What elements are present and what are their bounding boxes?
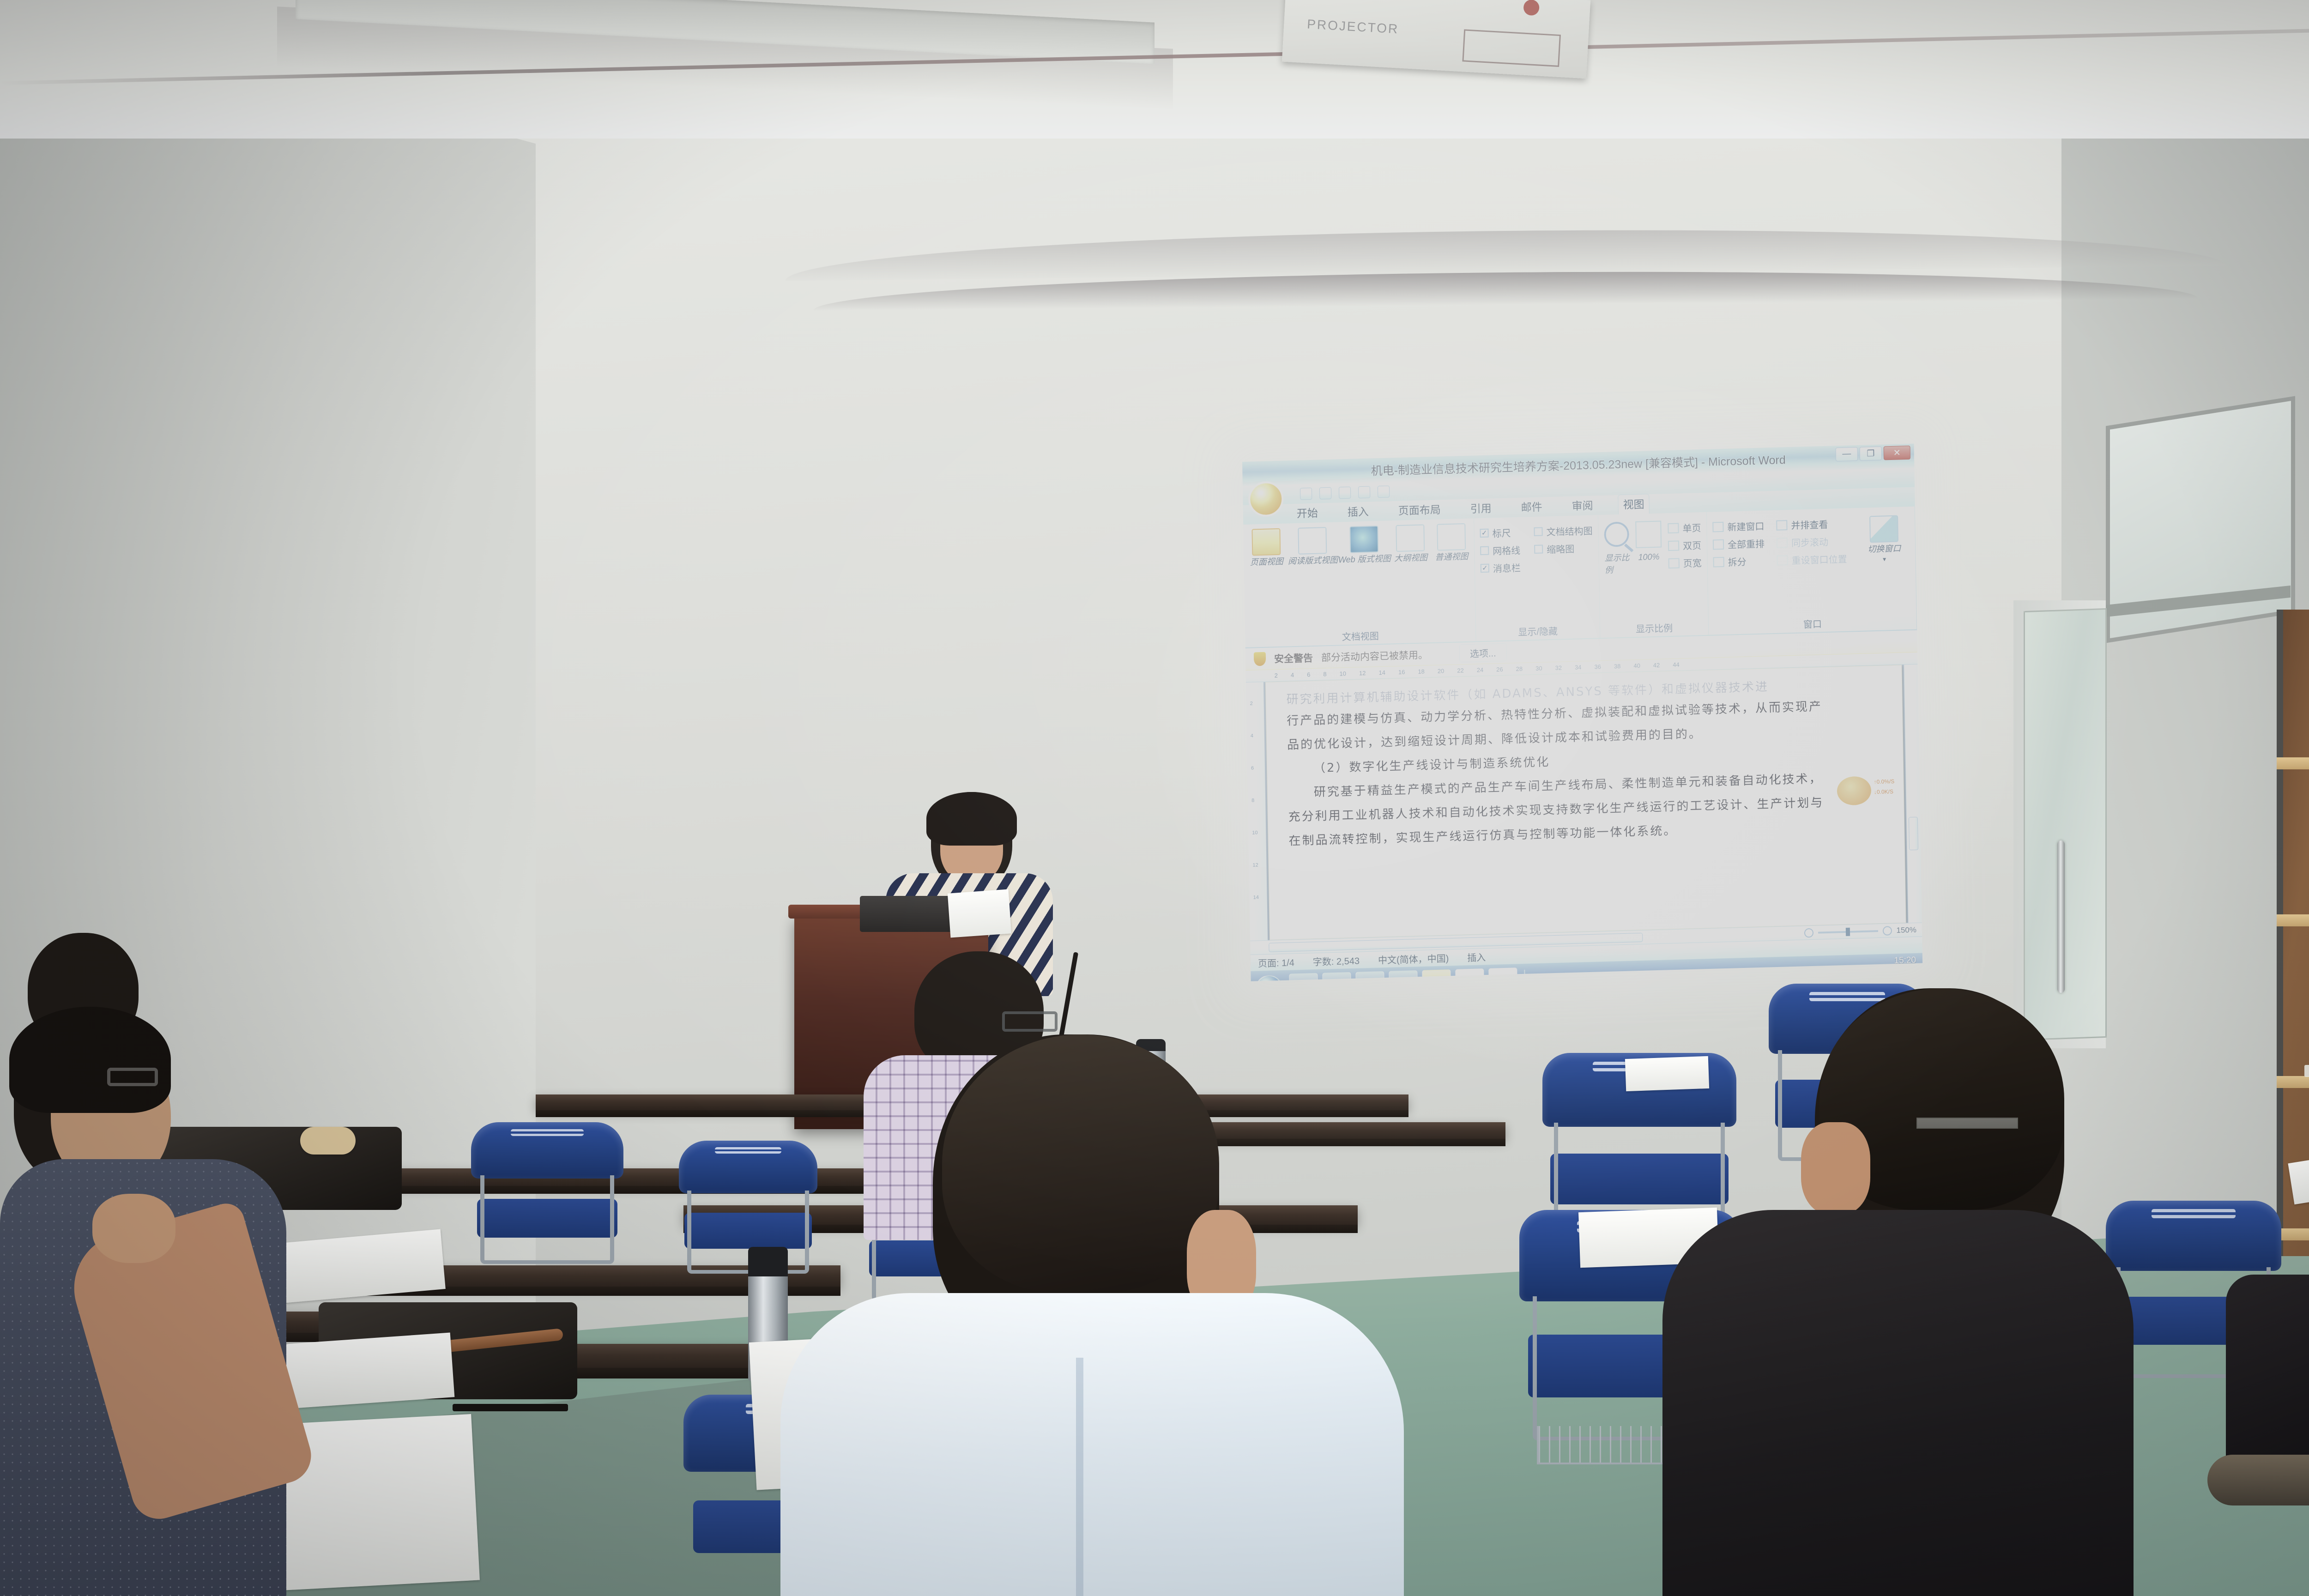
shelf-board (2277, 1076, 2309, 1088)
classroom-photo-scene: PROJECTOR 机电-制造业信息技术研究生培养方案-2013.05.23ne… (0, 0, 2309, 1596)
checkbox-label: 缩略图 (1547, 542, 1574, 556)
checkbox-message-bar[interactable]: ✓消息栏 (1481, 561, 1521, 575)
speaker-hair (926, 792, 1017, 846)
btn-split[interactable]: 拆分 (1713, 554, 1765, 568)
unchecked-icon (1534, 527, 1542, 536)
glasses-icon (107, 1068, 158, 1086)
shelf-board (2277, 914, 2309, 926)
vruler-tick: 12 (1252, 862, 1258, 868)
zoom-slider[interactable] (1818, 930, 1878, 934)
btn-label: 普通视图 (1435, 552, 1468, 562)
checkbox-document-map[interactable]: 文档结构图 (1534, 524, 1592, 538)
attendee-left-gray-polo (0, 1007, 314, 1596)
ruler-tick: 4 (1291, 671, 1294, 678)
zoom-slider-group[interactable]: 150% (1804, 925, 1916, 937)
status-word-count[interactable]: 字数: 2,543 (1313, 954, 1360, 968)
reading-layout-icon (1298, 527, 1327, 555)
minimize-button[interactable]: — (1836, 447, 1858, 461)
doc-line: （2）数字化生产线设计与制造系统优化 (1287, 747, 1883, 775)
ruler-tick: 2 (1275, 672, 1278, 679)
ribbon-group-zoom: 显示比例 100% 单页 双页 页宽 显示比例 (1598, 512, 1709, 638)
btn-label: 新建窗口 (1727, 519, 1764, 533)
black-tshirt (1662, 1210, 2134, 1596)
page-width-icon (1668, 558, 1680, 568)
frosted-glass-door[interactable] (2024, 608, 2107, 1040)
shirt-seam (1076, 1358, 1083, 1596)
checkbox-thumbnails[interactable]: 缩略图 (1534, 541, 1593, 556)
vruler-tick: 8 (1251, 798, 1254, 804)
btn-switch-windows[interactable]: 切换窗口 ▾ (1858, 515, 1910, 569)
chair-slots (511, 1129, 584, 1137)
btn-arrange-all[interactable]: 全部重排 (1713, 536, 1765, 551)
btn-label: 大纲视图 (1394, 553, 1427, 563)
btn-synchronous-scrolling[interactable]: 同步滚动 (1777, 534, 1847, 550)
new-window-icon (1712, 521, 1723, 532)
document-area[interactable]: 2 4 6 8 10 12 14 研究利用计算机辅助设计软件（如 ADAMS、A… (1246, 665, 1922, 941)
hair (9, 1007, 171, 1113)
tab-home[interactable]: 开始 (1292, 503, 1323, 523)
btn-label: 单页 (1682, 520, 1701, 534)
ribbon-group-show-hide: ✓标尺 网格线 ✓消息栏 文档结构图 缩略图 显示/隐藏 (1474, 515, 1600, 641)
restore-button[interactable]: ❐ (1860, 447, 1882, 461)
btn-label: 全部重排 (1728, 536, 1765, 550)
ruler-tick: 38 (1614, 663, 1621, 670)
checkbox-label: 标尺 (1492, 526, 1511, 539)
ribbon-group-window: 新建窗口 全部重排 拆分 并排查看 同步滚动 重设窗口位置 切换窗口 ▾ (1707, 507, 1917, 635)
btn-draft[interactable]: 普通视图 (1434, 523, 1469, 562)
ruler-tick: 18 (1418, 668, 1425, 675)
tab-view[interactable]: 视图 (1618, 494, 1650, 514)
ruler-tick: 12 (1359, 670, 1366, 677)
chair-back (471, 1122, 623, 1179)
tab-insert[interactable]: 插入 (1342, 502, 1373, 522)
projector-label: PROJECTOR (1306, 17, 1399, 36)
upload-speed: ↑0.0%/S (1874, 778, 1894, 785)
draft-view-icon (1437, 523, 1466, 551)
shelf-item (2304, 1065, 2309, 1077)
security-options-button[interactable]: 选项... (1459, 643, 1507, 663)
web-layout-globe-icon (1350, 526, 1379, 553)
btn-view-side-by-side[interactable]: 并排查看 (1776, 517, 1846, 532)
sync-scroll-icon (1777, 538, 1788, 548)
checkbox-label: 网格线 (1493, 543, 1520, 557)
undo-icon[interactable] (1319, 487, 1331, 500)
ruler-tick: 30 (1535, 665, 1542, 672)
pen-on-desk (453, 1404, 568, 1411)
ruler-tick: 22 (1457, 667, 1464, 674)
status-page[interactable]: 页面: 1/4 (1258, 955, 1294, 969)
btn-web-layout[interactable]: Web 版式视图 (1342, 526, 1387, 565)
ruler-tick: 42 (1653, 662, 1660, 669)
checkbox-gridlines[interactable]: 网格线 (1480, 543, 1520, 557)
doc-line: 品的优化设计，达到缩短设计周期、降低设计成本和试验费用的目的。 (1287, 723, 1882, 751)
chevron-down-icon[interactable]: ▾ (1883, 556, 1886, 562)
checked-icon: ✓ (1481, 564, 1489, 573)
ruler-tick: 40 (1633, 662, 1640, 669)
doc-line: 在制品流转控制，实现生产线运行仿真与控制等功能一体化系统。 (1288, 819, 1884, 847)
door-handle-icon[interactable] (2057, 840, 2065, 993)
shoe (2207, 1455, 2309, 1505)
group-label: 显示比例 (1600, 620, 1708, 636)
hair (942, 1034, 1219, 1293)
ruler-tick: 8 (1323, 671, 1326, 677)
btn-reset-window-position[interactable]: 重设窗口位置 (1777, 552, 1847, 567)
ruler-tick: 36 (1594, 663, 1601, 670)
split-icon (1713, 556, 1724, 567)
btn-zoom-dialog[interactable]: 显示比例 (1604, 521, 1630, 575)
spelling-icon[interactable] (1378, 485, 1390, 498)
btn-print-layout[interactable]: 页面视图 (1249, 528, 1284, 567)
two-pages-icon (1668, 540, 1679, 551)
ruler-tick: 24 (1477, 666, 1484, 673)
btn-outline[interactable]: 大纲视图 (1393, 524, 1428, 563)
vruler-tick: 14 (1253, 895, 1259, 900)
baseboard-strip (1916, 1118, 2018, 1129)
switch-windows-icon (1869, 515, 1898, 543)
btn-two-pages[interactable]: 双页 (1668, 538, 1701, 552)
checkbox-label: 消息栏 (1493, 561, 1521, 575)
projector-vent (1462, 29, 1561, 67)
security-warning-message: 部分活动内容已被禁用。 (1321, 647, 1428, 664)
vruler-tick: 6 (1251, 766, 1254, 771)
attendee-white-shirt-center (780, 1034, 1404, 1596)
ruler-tick: 32 (1555, 664, 1562, 671)
print-layout-icon (1252, 528, 1281, 556)
side-by-side-icon (1776, 520, 1787, 531)
vruler-tick: 10 (1252, 830, 1257, 835)
btn-label: 切换窗口 (1868, 544, 1901, 554)
white-striped-shirt (780, 1293, 1404, 1596)
tab-mailings[interactable]: 邮件 (1516, 497, 1547, 517)
ribbon-body[interactable]: 页面视图 阅读版式视图 Web 版式视图 大纲视图 (1243, 507, 1917, 648)
ruler-tick: 44 (1673, 661, 1680, 668)
glasses-icon (1002, 1011, 1058, 1032)
group-label: 窗口 (1709, 614, 1916, 633)
save-icon[interactable] (1300, 488, 1312, 500)
ruler-tick: 14 (1378, 669, 1385, 676)
doc-line: 充分利用工业机器人技术和自动化技术实现支持数字化生产线运行的工艺设计、生产计划与 (1288, 795, 1884, 823)
shield-icon (1254, 652, 1266, 666)
btn-one-page[interactable]: 单页 (1668, 520, 1701, 535)
btn-zoom-100[interactable]: 100% (1635, 521, 1662, 563)
zoom-percent-label[interactable]: 150% (1896, 925, 1916, 935)
vertical-ruler[interactable]: 2 4 6 8 10 12 14 (1246, 682, 1268, 941)
ruler-tick: 34 (1575, 664, 1582, 671)
shelf-board (2277, 757, 2309, 769)
start-button-icon[interactable]: ⊞ (1255, 975, 1282, 981)
ruler-tick: 26 (1496, 666, 1503, 673)
security-warning-title: 安全警告 (1274, 651, 1313, 665)
arrange-all-icon (1713, 539, 1724, 550)
zoom-value: 100% (1638, 552, 1659, 562)
chair-slots (2152, 1209, 2236, 1218)
ruler-tick: 20 (1438, 667, 1445, 674)
print-preview-icon[interactable] (1358, 486, 1370, 499)
tab-review[interactable]: 审阅 (1567, 496, 1598, 516)
btn-page-width[interactable]: 页宽 (1668, 556, 1701, 570)
tab-page-layout[interactable]: 页面布局 (1393, 500, 1445, 520)
btn-label: 页宽 (1683, 556, 1701, 569)
status-language[interactable]: 中文(简体，中国) (1378, 951, 1449, 966)
unchecked-icon (1480, 546, 1489, 556)
attendee-far-right (2226, 1275, 2309, 1596)
btn-label: 拆分 (1728, 555, 1746, 568)
download-speed: ↓0.0K/S (1874, 788, 1893, 795)
window-controls[interactable]: — ❐ ✕ (1836, 446, 1910, 461)
hand (92, 1194, 175, 1263)
checkbox-ruler[interactable]: ✓标尺 (1480, 526, 1520, 540)
tab-references[interactable]: 引用 (1465, 498, 1496, 519)
one-page-icon (1668, 523, 1679, 533)
scrollbar-thumb[interactable] (1909, 817, 1918, 851)
zoom-out-icon[interactable] (1804, 928, 1813, 937)
attendee-black-tshirt-right (1662, 988, 2134, 1596)
zoom-100-icon (1635, 521, 1662, 549)
btn-label: 双页 (1683, 538, 1701, 552)
ruler-tick: 28 (1516, 665, 1523, 672)
checkbox-label: 文档结构图 (1546, 524, 1592, 538)
document-page[interactable]: 研究利用计算机辅助设计软件（如 ADAMS、ANSYS 等软件）和虚拟仪器技术进… (1265, 665, 1906, 940)
wooden-shelf-unit (2277, 610, 2309, 1256)
group-label: 显示/隐藏 (1476, 623, 1600, 639)
reset-window-icon (1777, 555, 1788, 566)
unchecked-icon (1534, 544, 1543, 554)
chair-back-left[interactable] (471, 1122, 623, 1270)
btn-label: 同步滚动 (1791, 535, 1828, 549)
ruler-tick: 6 (1307, 671, 1310, 678)
projector-lens-icon (1523, 0, 1540, 16)
checked-icon: ✓ (1480, 529, 1488, 538)
trousers (2226, 1275, 2309, 1478)
btn-new-window[interactable]: 新建窗口 (1712, 519, 1764, 533)
close-button[interactable]: ✕ (1884, 446, 1910, 460)
magnifier-icon (1604, 521, 1629, 547)
ruler-tick: 16 (1398, 669, 1405, 676)
status-insert-mode[interactable]: 插入 (1467, 950, 1486, 964)
btn-label: 并排查看 (1791, 517, 1828, 532)
chair-slots (715, 1147, 781, 1154)
btn-label: 页面视图 (1250, 557, 1283, 567)
chair-frame (480, 1175, 614, 1264)
face-side (1801, 1122, 1870, 1215)
doc-line: 研究基于精益生产模式的产品生产车间生产线布局、柔性制造单元和装备自动化技术， (1288, 771, 1883, 799)
btn-full-screen-reading[interactable]: 阅读版式视图 (1290, 527, 1336, 566)
btn-label: Web 版式视图 (1338, 554, 1391, 564)
vruler-tick: 4 (1251, 733, 1253, 739)
ruler-tick: 10 (1339, 670, 1346, 677)
vruler-tick: 2 (1250, 701, 1253, 707)
btn-label: 阅读版式视图 (1288, 556, 1338, 566)
shelf-board (2277, 1228, 2309, 1240)
speaker-notes-paper (948, 889, 1011, 938)
btn-label: 重设窗口位置 (1791, 552, 1847, 567)
group-label: 文档视图 (1245, 626, 1475, 645)
zoom-slider-handle[interactable] (1845, 927, 1850, 936)
ribbon-group-document-views: 页面视图 阅读版式视图 Web 版式视图 大纲视图 (1243, 518, 1476, 647)
zoom-in-icon[interactable] (1882, 926, 1892, 936)
redo-icon[interactable] (1339, 487, 1351, 499)
projected-word-window[interactable]: 机电-制造业信息技术研究生培养方案-2013.05.23new [兼容模式] -… (1242, 444, 1922, 981)
outline-view-icon (1396, 524, 1425, 552)
zoom-label: 显示比例 (1604, 551, 1630, 575)
